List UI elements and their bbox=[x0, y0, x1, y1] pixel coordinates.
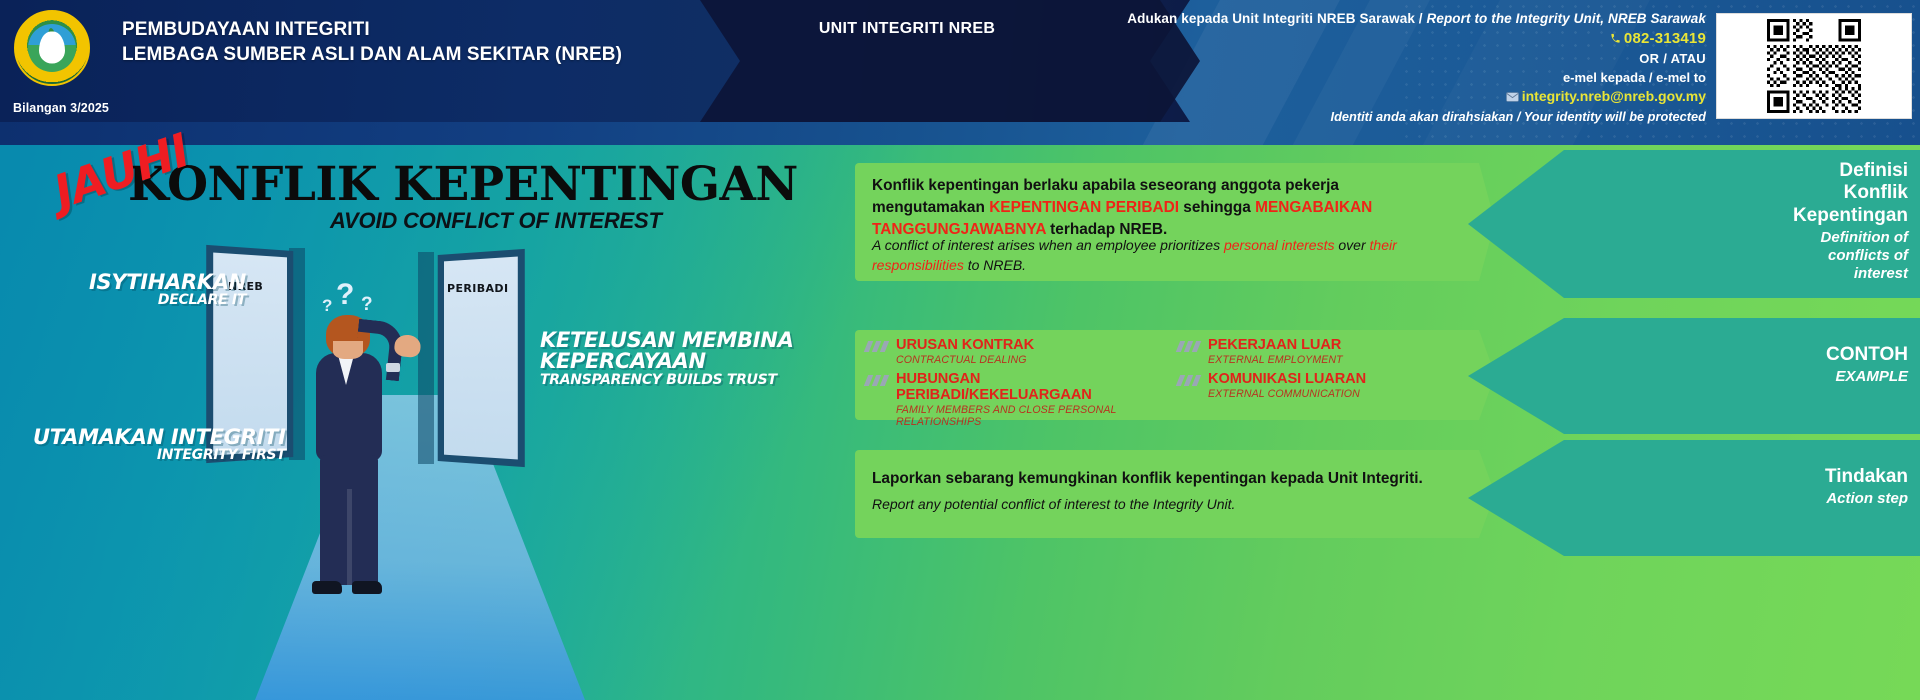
header-org-title: PEMBUDAYAAN INTEGRITI LEMBAGA SUMBER ASL… bbox=[122, 17, 622, 67]
nreb-logo bbox=[14, 10, 90, 86]
envelope-icon bbox=[1506, 88, 1519, 108]
report-label-en: Report to the Integrity Unit, NREB Saraw… bbox=[1427, 11, 1707, 26]
org-line-1: PEMBUDAYAAN INTEGRITI bbox=[122, 17, 622, 42]
man-watch bbox=[386, 363, 400, 372]
arrows-icon bbox=[1178, 375, 1202, 386]
action-panel bbox=[855, 450, 1465, 538]
man-shoe-right bbox=[352, 581, 382, 594]
report-label-ms: Adukan kepada Unit Integriti NREB Sarawa… bbox=[1127, 11, 1426, 26]
arrows-icon bbox=[866, 375, 890, 386]
action-body-ms: Laporkan sebarang kemungkinan konflik ke… bbox=[872, 470, 1447, 488]
label-integrity-first: UTAMAKAN INTEGRITI INTEGRITY FIRST bbox=[33, 427, 286, 463]
example-en: EXTERNAL COMMUNICATION bbox=[1208, 388, 1488, 400]
definition-en-part1: A conflict of interest arises when an em… bbox=[872, 237, 1224, 253]
action-body-en: Report any potential conflict of interes… bbox=[872, 496, 1447, 512]
man-legs bbox=[320, 455, 378, 585]
door-shadow-right bbox=[418, 252, 434, 464]
confused-man-illustration bbox=[300, 315, 420, 615]
action-chevron-en: Action step bbox=[1608, 490, 1908, 508]
door-right-label: PERIBADI bbox=[447, 282, 508, 295]
definition-en-part3: to NREB. bbox=[964, 257, 1026, 273]
example-ms: PEKERJAAN LUAR bbox=[1208, 337, 1488, 353]
definition-ms-highlight1: KEPENTINGAN PERIBADI bbox=[989, 199, 1179, 216]
man-hand bbox=[393, 334, 421, 359]
example-en: EXTERNAL EMPLOYMENT bbox=[1208, 354, 1488, 366]
example-en: CONTRACTUAL DEALING bbox=[896, 354, 1176, 366]
definition-body-en: A conflict of interest arises when an em… bbox=[872, 235, 1447, 276]
phone-line[interactable]: 082-313419 bbox=[926, 28, 1706, 50]
definition-body-ms: Konflik kepentingan berlaku apabila sese… bbox=[872, 175, 1447, 241]
action-chevron-text: Tindakan Action step bbox=[1608, 466, 1908, 508]
label-declare-ms: ISYTIHARKAN bbox=[89, 272, 246, 293]
action-chevron-ms: Tindakan bbox=[1608, 466, 1908, 488]
example-ms: KOMUNIKASI LUARAN bbox=[1208, 371, 1488, 387]
example-ms: URUSAN KONTRAK bbox=[896, 337, 1176, 353]
logo-hand-icon bbox=[39, 32, 65, 64]
arrows-icon bbox=[866, 341, 890, 352]
definition-ms-part2: sehingga bbox=[1179, 199, 1255, 216]
label-integrity-first-ms: UTAMAKAN INTEGRITI bbox=[33, 427, 286, 448]
org-line-2: LEMBAGA SUMBER ASLI DAN ALAM SEKITAR (NR… bbox=[122, 42, 622, 67]
label-transparency-en: TRANSPARENCY BUILDS TRUST bbox=[540, 373, 794, 387]
label-transparency-ms-1: KETELUSAN MEMBINA bbox=[540, 330, 794, 351]
examples-chevron-en: EXAMPLE bbox=[1608, 368, 1908, 386]
man-shoe-left bbox=[312, 581, 342, 594]
qr-code[interactable] bbox=[1716, 13, 1912, 119]
label-integrity-first-en: INTEGRITY FIRST bbox=[33, 448, 286, 462]
report-line: Adukan kepada Unit Integriti NREB Sarawa… bbox=[926, 9, 1706, 28]
list-item: HUBUNGAN PERIBADI/KEKELUARGAAN FAMILY ME… bbox=[866, 371, 1176, 428]
phone-number: 082-313419 bbox=[1624, 30, 1706, 47]
arrows-icon bbox=[1178, 341, 1202, 352]
question-mark-icon: ? bbox=[322, 296, 332, 316]
contact-block: Adukan kepada Unit Integriti NREB Sarawa… bbox=[926, 9, 1706, 126]
definition-chevron-ms: Definisi Konflik Kepentingan bbox=[1608, 160, 1908, 227]
label-declare: ISYTIHARKAN DECLARE IT bbox=[89, 272, 246, 308]
page-title: KONFLIK KEPENTINGAN bbox=[128, 160, 798, 210]
examples-chevron-text: CONTOH EXAMPLE bbox=[1608, 344, 1908, 386]
definition-en-highlight1: personal interests bbox=[1224, 237, 1335, 253]
privacy-note: Identiti anda akan dirahsiakan / Your id… bbox=[926, 108, 1706, 126]
examples-chevron-ms: CONTOH bbox=[1608, 344, 1908, 366]
integrity-poster: PEMBUDAYAAN INTEGRITI LEMBAGA SUMBER ASL… bbox=[0, 0, 1920, 700]
email-line[interactable]: integrity.nreb@nreb.gov.my bbox=[926, 87, 1706, 108]
definition-chevron: Definisi Konflik Kepentingan Definition … bbox=[1468, 150, 1920, 298]
phone-icon bbox=[1610, 29, 1621, 50]
example-ms: HUBUNGAN PERIBADI/KEKELUARGAAN bbox=[896, 371, 1176, 403]
definition-en-part2: over bbox=[1335, 237, 1370, 253]
list-item: KOMUNIKASI LUARAN EXTERNAL COMMUNICATION bbox=[1178, 371, 1488, 400]
email-address: integrity.nreb@nreb.gov.my bbox=[1522, 88, 1706, 104]
question-mark-icon: ? bbox=[361, 294, 373, 316]
definition-chevron-text: Definisi Konflik Kepentingan Definition … bbox=[1608, 160, 1908, 282]
email-label: e-mel kepada / e-mel to bbox=[926, 69, 1706, 87]
list-item: URUSAN KONTRAK CONTRACTUAL DEALING bbox=[866, 337, 1176, 366]
label-declare-en: DECLARE IT bbox=[89, 293, 246, 307]
question-mark-icon: ? bbox=[336, 278, 354, 312]
list-item: PEKERJAAN LUAR EXTERNAL EMPLOYMENT bbox=[1178, 337, 1488, 366]
label-transparency: KETELUSAN MEMBINA KEPERCAYAAN TRANSPAREN… bbox=[540, 330, 794, 387]
examples-chevron: CONTOH EXAMPLE bbox=[1468, 318, 1920, 434]
issue-number: Bilangan 3/2025 bbox=[13, 101, 109, 115]
poster-header: PEMBUDAYAAN INTEGRITI LEMBAGA SUMBER ASL… bbox=[0, 0, 1920, 145]
action-chevron: Tindakan Action step bbox=[1468, 440, 1920, 556]
examples-column-right: PEKERJAAN LUAR EXTERNAL EMPLOYMENT KOMUN… bbox=[1178, 337, 1488, 405]
examples-column-left: URUSAN KONTRAK CONTRACTUAL DEALING HUBUN… bbox=[866, 337, 1176, 433]
label-transparency-ms-2: KEPERCAYAAN bbox=[540, 351, 794, 372]
example-en: FAMILY MEMBERS AND CLOSE PERSONAL RELATI… bbox=[896, 404, 1176, 428]
definition-chevron-en: Definition of conflicts of interest bbox=[1608, 229, 1908, 282]
or-divider: OR / ATAU bbox=[926, 50, 1706, 68]
